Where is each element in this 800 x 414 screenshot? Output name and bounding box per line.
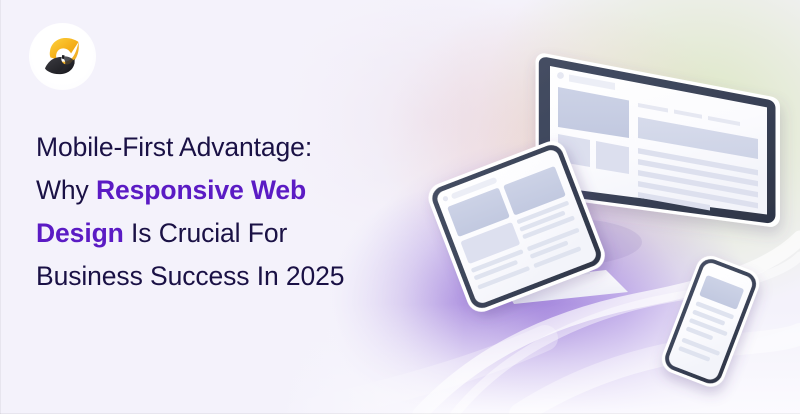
headline-line-2: Why Responsive Web	[36, 169, 436, 212]
device-phone	[658, 252, 764, 391]
headline-highlight-2: Design	[36, 218, 124, 248]
headline-highlight-1: Responsive Web	[96, 175, 306, 205]
brand-logo[interactable]	[29, 23, 96, 90]
headline-text-3-suffix: Is Crucial For	[124, 218, 287, 248]
page-title: Mobile-First Advantage: Why Responsive W…	[36, 126, 436, 298]
article-banner: Mobile-First Advantage: Why Responsive W…	[0, 0, 800, 414]
headline-line-1: Mobile-First Advantage:	[36, 126, 436, 169]
edge-border-left	[0, 0, 1, 414]
headline-text-2-prefix: Why	[36, 175, 96, 205]
headline-text-1: Mobile-First Advantage:	[36, 132, 312, 162]
brand-logo-mark	[29, 23, 96, 90]
headline-line-3: Design Is Crucial For	[36, 212, 436, 255]
responsive-devices-illustration	[410, 30, 800, 414]
headline-line-4: Business Success In 2025	[36, 255, 436, 298]
headline-text-4: Business Success In 2025	[36, 261, 344, 291]
